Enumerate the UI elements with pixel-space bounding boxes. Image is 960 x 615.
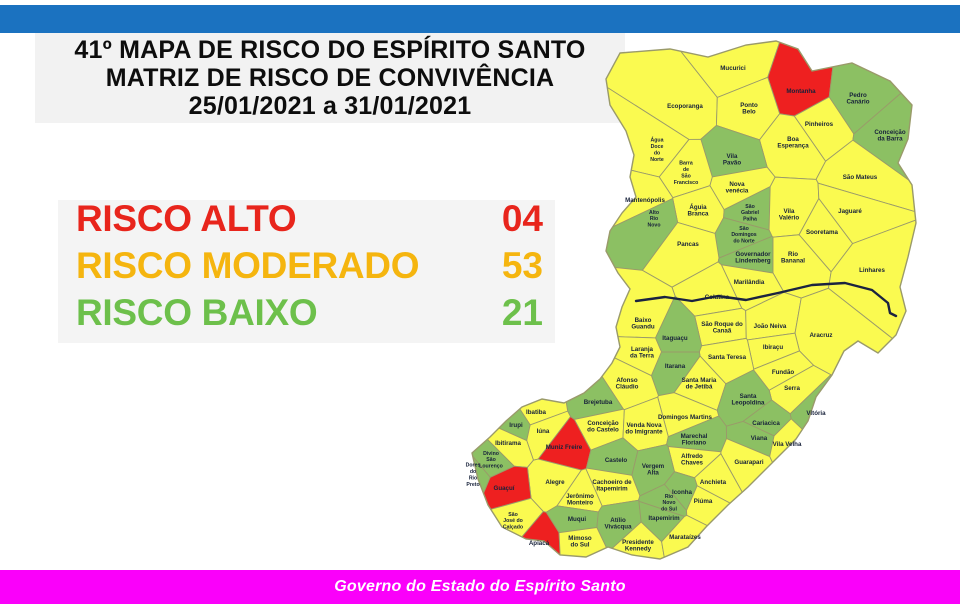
legend-label-moderado: RISCO MODERADO <box>76 247 419 284</box>
municipality-label: Ibiraçu <box>763 344 784 351</box>
municipality-label: MarechalFloriano <box>681 433 708 446</box>
municipality-area <box>721 439 840 565</box>
municipality-label: Piúma <box>694 498 713 505</box>
municipality-label: Linhares <box>859 267 885 274</box>
municipality-label: Montanha <box>786 88 816 95</box>
municipality-area <box>460 218 568 425</box>
municipality-label: Sooretama <box>806 229 839 236</box>
municipality-label: Ibatiba <box>526 409 546 416</box>
municipality-label: Cachoeiro deItapemirim <box>592 479 632 492</box>
municipality-label: PedroCanário <box>846 92 869 105</box>
municipality-label: Pancas <box>677 241 699 248</box>
municipality-label: Domingos Martins <box>658 414 713 421</box>
municipality-label: Colatina <box>705 294 730 301</box>
municipality-label: Laranjada Terra <box>630 346 655 359</box>
municipality-label: São Mateus <box>843 174 878 181</box>
municipality-label: Viana <box>751 435 768 442</box>
municipality-label: ÁguiaBranca <box>688 204 710 217</box>
municipality-label: Itapemirim <box>648 515 680 522</box>
municipality-label: Apiacá <box>529 540 550 547</box>
municipality-label: Aracruz <box>809 332 832 339</box>
municipality-label: Marataízes <box>669 534 701 541</box>
page-title-line-3: 25/01/2021 a 31/01/2021 <box>189 92 472 120</box>
municipality-label: Castelo <box>605 457 628 464</box>
municipality-label: Guaçuí <box>494 485 515 492</box>
municipality-label: Serra <box>784 385 800 392</box>
legend-label-baixo: RISCO BAIXO <box>76 294 317 331</box>
municipality-label: Conceiçãodo Castelo <box>587 420 619 433</box>
map-svg: MucuriciMontanhaPedroCanárioEcoporangaPo… <box>460 35 960 565</box>
municipality-label: Alegre <box>545 479 565 486</box>
municipality-label: Fundão <box>772 369 795 376</box>
municipality-label: Muqui <box>568 516 586 523</box>
municipality-label: Mantenópolis <box>625 197 665 204</box>
municipality-label: Anchieta <box>700 479 727 486</box>
municipality-label: Marilândia <box>734 279 765 286</box>
municipality-label: PresidenteKennedy <box>622 539 654 552</box>
municipality-label: AlfredoChaves <box>681 453 704 466</box>
footer-text: Governo do Estado do Espírito Santo <box>334 578 625 596</box>
municipality-label: Cariacica <box>752 420 780 427</box>
top-accent-bar <box>0 5 960 33</box>
municipality-label: GovernadorLindemberg <box>735 251 771 264</box>
municipality-label: Brejetuba <box>584 399 613 406</box>
municipality-label: Venda Novado Imigrante <box>625 422 663 435</box>
municipality-area <box>790 375 960 565</box>
municipality-label: Pinheiros <box>805 121 834 128</box>
municipality-label: Iconha <box>672 489 692 496</box>
municipality-label: Mucurici <box>720 65 746 72</box>
municipality-label: Ibitirama <box>495 440 521 447</box>
municipality-label: Iúna <box>537 428 550 435</box>
legend-label-alto: RISCO ALTO <box>76 200 296 237</box>
municipality-label: Ecoporanga <box>667 103 703 110</box>
municipality-label: AfonsoCláudio <box>616 377 639 390</box>
municipality-label: Itarana <box>665 363 686 370</box>
municipality-area <box>460 255 530 440</box>
municipality-label: PontoBelo <box>740 102 758 115</box>
municipality-label: Santa Teresa <box>708 354 747 361</box>
municipality-label: ÁguaDocedoNorte <box>650 137 664 163</box>
municipality-label: Guarapari <box>734 459 764 466</box>
municipality-label: Vitória <box>806 410 826 417</box>
municipality-label: Conceiçãoda Barra <box>874 129 906 142</box>
municipality-label: Vila Velha <box>773 441 802 448</box>
footer-bar: Governo do Estado do Espírito Santo <box>0 570 960 604</box>
municipality-label: JerônimoMonteiro <box>566 493 594 506</box>
municipality-label: Jaguaré <box>838 208 862 215</box>
risk-map: MucuriciMontanhaPedroCanárioEcoporangaPo… <box>460 35 960 565</box>
municipality-label: Muniz Freire <box>546 444 583 451</box>
municipality-label: João Neiva <box>754 323 787 330</box>
municipality-label: Santa Mariade Jetibá <box>682 377 717 390</box>
municipality-label: Irupi <box>509 422 523 429</box>
municipality-label: BaixoGuandu <box>631 317 655 330</box>
municipality-label: Mimosodo Sul <box>568 535 592 548</box>
municipality-label: Itaguaçu <box>662 335 688 342</box>
slide-root: 41º MAPA DE RISCO DO ESPÍRITO SANTO MATR… <box>0 0 960 615</box>
